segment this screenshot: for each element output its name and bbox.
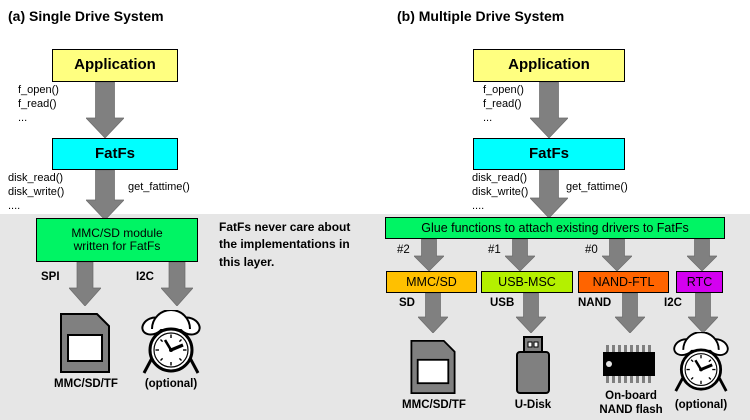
- box-driver-rtc: RTC: [676, 271, 723, 293]
- signal-label-nand: NAND: [578, 297, 611, 309]
- arrow-glue-to-usbmsc: [505, 239, 535, 271]
- arrow-fatfs-to-glue-right: [530, 170, 568, 218]
- arrow-usb-to-udisk: [516, 293, 546, 333]
- layer-note-left: FatFs never care about the implementatio…: [219, 219, 369, 271]
- arrow-sd-to-sdcard: [418, 293, 448, 333]
- box-application-left: Application: [52, 49, 178, 82]
- box-glue-functions: Glue functions to attach existing driver…: [385, 217, 725, 239]
- arrow-app-to-fatfs-right: [530, 82, 568, 138]
- alarm-clock-icon: [140, 310, 202, 376]
- arrow-spi-to-sdcard: [69, 262, 101, 306]
- device-label-sdcard-right: MMC/SD/TF: [388, 399, 480, 413]
- arrow-app-to-fatfs-left: [86, 82, 124, 138]
- nand-chip-icon: [600, 345, 660, 383]
- box-driver-usbmsc: USB-MSC: [481, 271, 573, 293]
- box-fatfs-left: FatFs: [52, 138, 178, 170]
- api-label-left-bottom: disk_read() disk_write() ....: [8, 172, 64, 213]
- box-driver-mmcsd: MMC/SD: [386, 271, 477, 293]
- box-fatfs-right: FatFs: [473, 138, 625, 170]
- sd-card-icon-right: [410, 340, 456, 394]
- get-fattime-label-right: get_fattime(): [566, 181, 628, 195]
- drive-number-1: #1: [488, 244, 501, 256]
- arrow-nand-to-chip: [615, 293, 645, 333]
- panel-a-title: (a) Single Drive System: [8, 8, 164, 24]
- get-fattime-label-left: get_fattime(): [128, 181, 190, 195]
- signal-label-i2c-right: I2C: [664, 297, 682, 309]
- drive-number-2: #2: [397, 244, 410, 256]
- alarm-clock-icon-right: [672, 332, 730, 394]
- arrow-glue-to-nandftl: [602, 239, 632, 271]
- drive-number-0: #0: [585, 244, 598, 256]
- sd-card-icon: [60, 313, 110, 373]
- usb-drive-icon: [513, 336, 553, 394]
- device-label-sdcard-left: MMC/SD/TF: [40, 378, 132, 392]
- box-driver-nandftl: NAND-FTL: [578, 271, 669, 293]
- device-label-clock-right: (optional): [658, 399, 744, 413]
- device-label-clock-left: (optional): [128, 378, 214, 392]
- arrow-glue-to-rtc: [687, 239, 717, 271]
- signal-label-usb: USB: [490, 297, 514, 309]
- api-label-left-top: f_open() f_read() ...: [18, 84, 59, 125]
- arrow-glue-to-mmcsd: [414, 239, 444, 271]
- arrow-i2c-to-clock-right: [688, 293, 718, 333]
- api-label-right-top: f_open() f_read() ...: [483, 84, 524, 125]
- box-application-right: Application: [473, 49, 625, 82]
- signal-label-spi: SPI: [41, 271, 60, 283]
- arrow-i2c-to-clock-left: [161, 262, 193, 306]
- signal-label-sd: SD: [399, 297, 415, 309]
- box-mmcsd-module-left: MMC/SD module written for FatFs: [36, 218, 198, 262]
- panel-b-title: (b) Multiple Drive System: [397, 8, 564, 24]
- arrow-fatfs-to-module-left: [86, 170, 124, 220]
- signal-label-i2c-left: I2C: [136, 271, 154, 283]
- api-label-right-bottom: disk_read() disk_write() ....: [472, 172, 528, 213]
- diagram-canvas: (a) Single Drive System Application f_op…: [0, 0, 750, 420]
- device-label-udisk: U-Disk: [495, 399, 571, 413]
